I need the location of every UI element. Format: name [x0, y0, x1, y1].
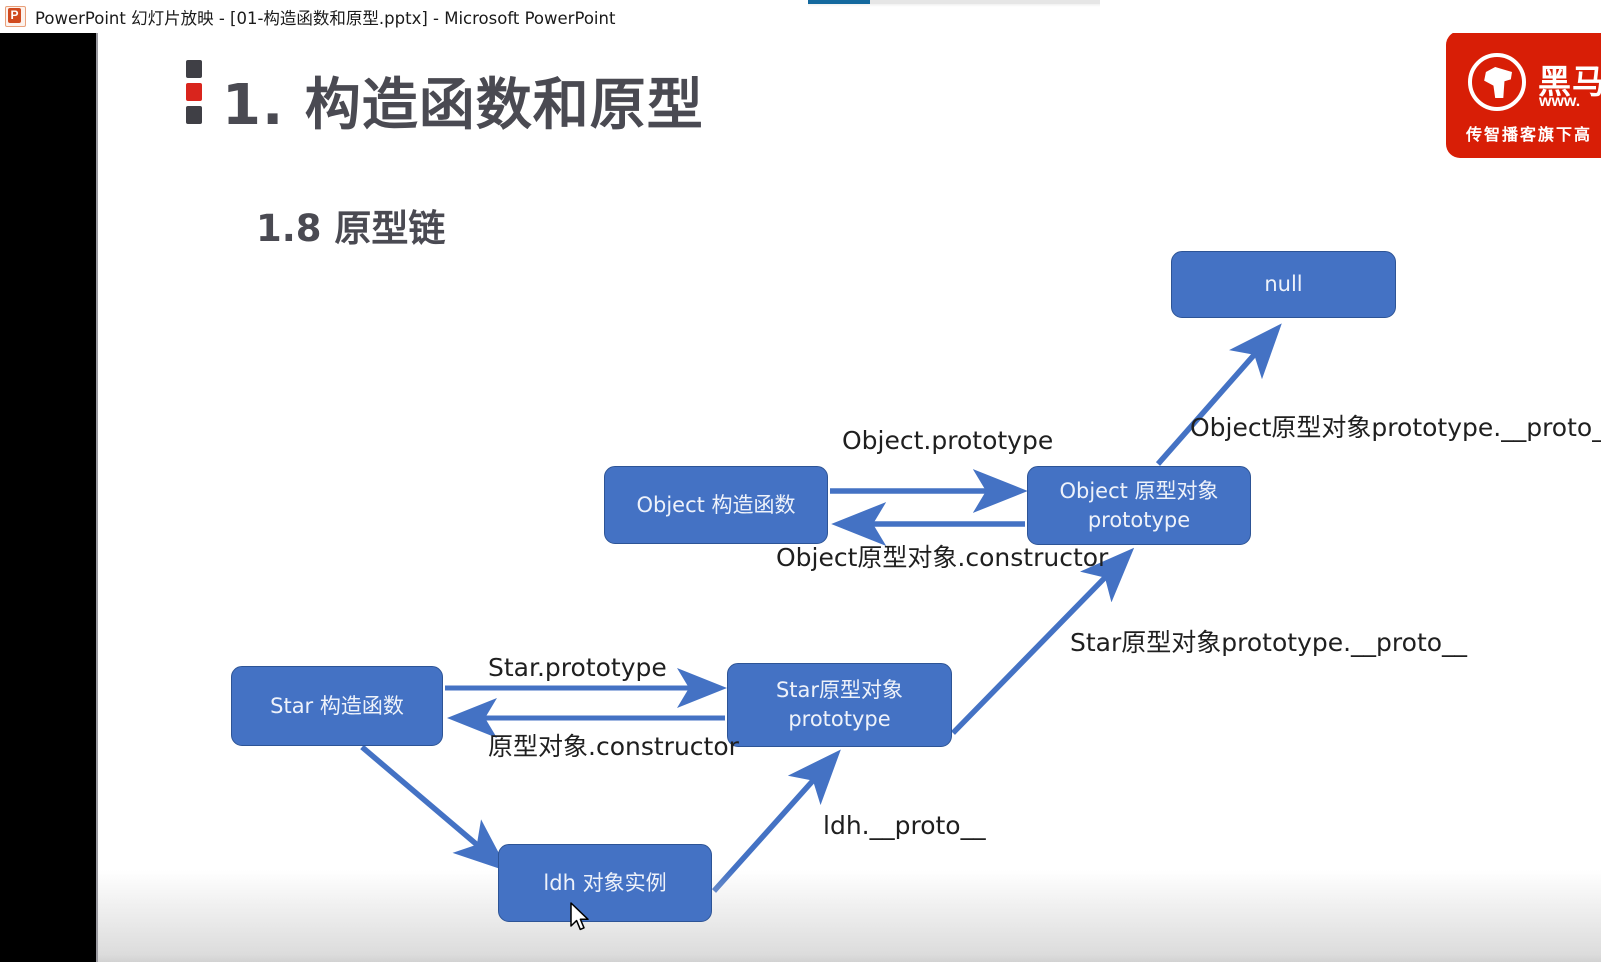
node-object-constructor[interactable]: Object 构造函数	[604, 466, 828, 544]
progress-bar-track[interactable]	[808, 0, 1100, 4]
powerpoint-icon: P	[5, 6, 26, 27]
node-star-prototype-line1: Star原型对象	[770, 676, 909, 705]
window-title: PowerPoint 幻灯片放映 - [01-构造函数和原型.pptx] - M…	[35, 5, 615, 29]
node-object-constructor-label: Object 构造函数	[630, 491, 801, 520]
gutter-edge-divider	[96, 33, 98, 962]
edge-label-object-constructor: Object原型对象.constructor	[776, 538, 1108, 574]
edge-label-star-prototype: Star.prototype	[488, 653, 667, 682]
slide-canvas[interactable]: 1. 构造函数和原型 1.8 原型链 黑马 www. 传智播客旗下高	[98, 33, 1601, 962]
node-ldh-instance-label: ldh 对象实例	[537, 869, 672, 898]
powerpoint-slideshow-window: P PowerPoint 幻灯片放映 - [01-构造函数和原型.pptx] -…	[0, 0, 1601, 962]
edge-label-object-proto-proto: Object原型对象prototype.__proto__	[1190, 408, 1601, 444]
edge-label-ldh-proto: ldh.__proto__	[823, 811, 986, 840]
node-null-label: null	[1258, 270, 1308, 299]
edge-label-star-constructor: 原型对象.constructor	[488, 727, 739, 763]
powerpoint-icon-letter: P	[8, 8, 21, 23]
progress-bar-fill	[808, 0, 870, 4]
left-black-gutter	[0, 33, 96, 962]
node-star-prototype-line2: prototype	[770, 705, 909, 734]
node-star-constructor[interactable]: Star 构造函数	[231, 666, 443, 746]
node-ldh-instance[interactable]: ldh 对象实例	[498, 844, 712, 922]
node-object-prototype-line2: prototype	[1053, 506, 1224, 535]
node-object-prototype[interactable]: Object 原型对象 prototype	[1027, 466, 1251, 545]
node-star-prototype[interactable]: Star原型对象 prototype	[727, 663, 952, 747]
title-bar: P PowerPoint 幻灯片放映 - [01-构造函数和原型.pptx] -…	[0, 0, 1601, 33]
node-object-prototype-line1: Object 原型对象	[1053, 477, 1224, 506]
node-null[interactable]: null	[1171, 251, 1396, 318]
node-star-constructor-label: Star 构造函数	[264, 692, 410, 721]
progress-strip-shadow	[808, 4, 1100, 7]
prototype-chain-diagram: null Object 构造函数 Object 原型对象 prototype S…	[98, 33, 1601, 962]
edge-label-object-prototype: Object.prototype	[842, 426, 1053, 455]
edge-label-star-proto-proto: Star原型对象prototype.__proto__	[1070, 623, 1467, 659]
